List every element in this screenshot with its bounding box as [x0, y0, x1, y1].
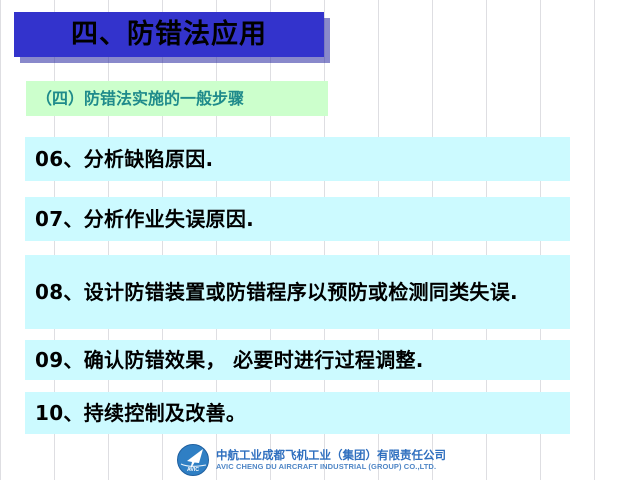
step-label: 07、分析作业失误原因.: [35, 205, 254, 234]
step-item-09: 09、确认防错效果， 必要时进行过程调整.: [25, 340, 570, 380]
avic-logo-icon: AVIC: [176, 443, 210, 477]
step-label: 09、确认防错效果， 必要时进行过程调整.: [35, 346, 424, 375]
avic-logo-abbr: AVIC: [187, 467, 199, 473]
step-item-10: 10、持续控制及改善。: [25, 392, 570, 434]
slide-subtitle-box: （四）防错法实施的一般步骤: [26, 81, 328, 116]
slide-title-banner: 四、防错法应用: [14, 12, 324, 57]
slide-title: 四、防错法应用: [71, 21, 267, 48]
step-item-06: 06、分析缺陷原因.: [25, 137, 570, 181]
step-label: 06、分析缺陷原因.: [35, 145, 213, 174]
step-label: 10、持续控制及改善。: [35, 399, 246, 428]
slide-subtitle: （四）防错法实施的一般步骤: [36, 91, 244, 107]
footer-company-text: 中航工业成都飞机工业（集团）有限责任公司 AVIC CHENG DU AIRCR…: [216, 449, 446, 471]
company-name-cn: 中航工业成都飞机工业（集团）有限责任公司: [216, 449, 446, 461]
step-label: 08、设计防错装置或防错程序以预防或检测同类失误.: [35, 278, 518, 307]
step-item-07: 07、分析作业失误原因.: [25, 197, 570, 241]
step-item-08: 08、设计防错装置或防错程序以预防或检测同类失误.: [25, 255, 570, 329]
presentation-slide: 四、防错法应用 （四）防错法实施的一般步骤 06、分析缺陷原因. 07、分析作业…: [0, 0, 640, 480]
slide-footer: AVIC 中航工业成都飞机工业（集团）有限责任公司 AVIC CHENG DU …: [176, 443, 446, 477]
company-name-en: AVIC CHENG DU AIRCRAFT INDUSTRIAL (GROUP…: [216, 463, 446, 471]
